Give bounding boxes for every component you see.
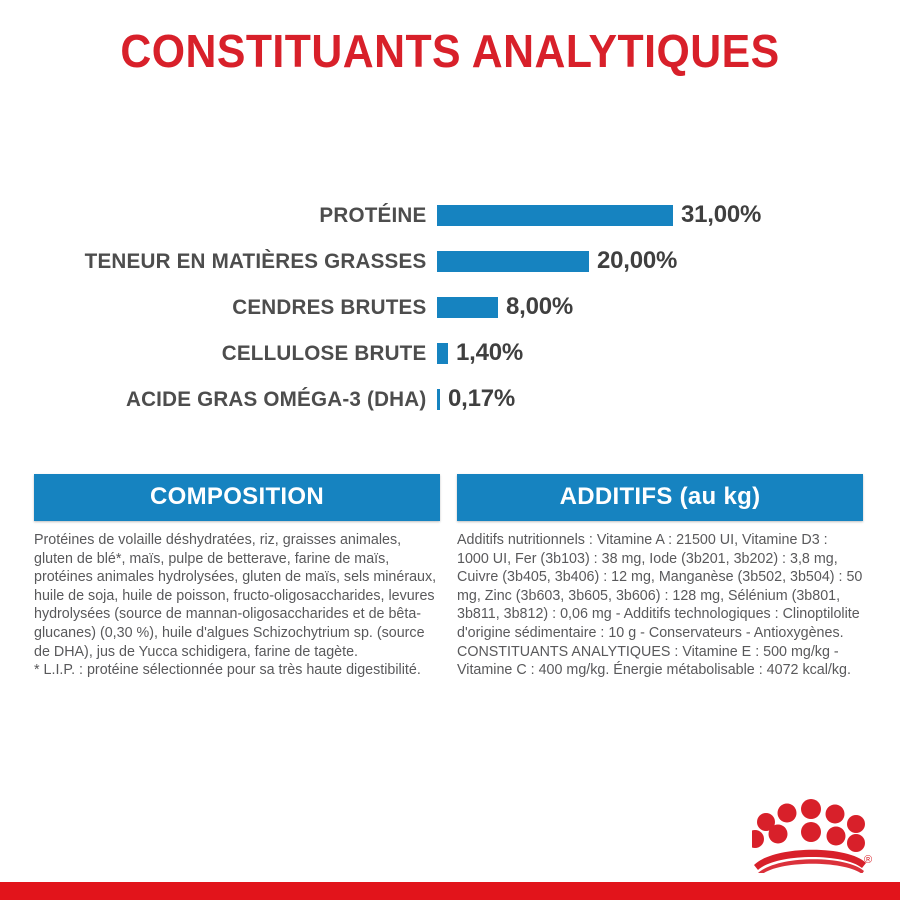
panel-header-composition: COMPOSITION: [34, 474, 440, 521]
bar-track: 0,17%: [437, 376, 900, 422]
bar-label-cellulose-brute: CELLULOSE BRUTE: [17, 341, 437, 366]
panel-composition: COMPOSITION Protéines de volaille déshyd…: [34, 474, 440, 680]
bar-value-matieres-grasses: 20,00%: [597, 247, 677, 275]
bar-label-cendres-brutes: CENDRES BRUTES: [17, 295, 437, 320]
panel-body-additifs: Additifs nutritionnels : Vitamine A : 21…: [457, 531, 863, 680]
chart-row: ACIDE GRAS OMÉGA-3 (DHA) 0,17%: [0, 376, 900, 422]
registered-mark: ®: [864, 854, 872, 866]
bar-fill-proteine: [437, 205, 673, 226]
chart-row: TENEUR EN MATIÈRES GRASSES 20,00%: [0, 238, 900, 284]
bar-track: 8,00%: [437, 284, 900, 330]
bar-value-cellulose-brute: 1,40%: [456, 339, 523, 367]
footer-red-bar: [0, 882, 900, 900]
royal-canin-crown-logo: ®: [752, 795, 874, 873]
chart-row: CENDRES BRUTES 8,00%: [0, 284, 900, 330]
bar-fill-matieres-grasses: [437, 251, 589, 272]
bar-label-matieres-grasses: TENEUR EN MATIÈRES GRASSES: [17, 249, 437, 274]
bar-value-cendres-brutes: 8,00%: [506, 293, 573, 321]
bar-value-proteine: 31,00%: [681, 201, 761, 229]
bar-label-proteine: PROTÉINE: [17, 203, 437, 228]
bar-value-omega-3-dha: 0,17%: [448, 385, 515, 413]
bar-label-omega-3-dha: ACIDE GRAS OMÉGA-3 (DHA): [17, 387, 437, 412]
panel-additifs: ADDITIFS (au kg) Additifs nutritionnels …: [457, 474, 863, 680]
panel-header-additifs: ADDITIFS (au kg): [457, 474, 863, 521]
bar-fill-omega-3-dha: [437, 389, 440, 410]
info-panels: COMPOSITION Protéines de volaille déshyd…: [34, 474, 870, 680]
bar-track: 1,40%: [437, 330, 900, 376]
bar-fill-cellulose-brute: [437, 343, 448, 364]
bar-fill-cendres-brutes: [437, 297, 498, 318]
page-title: CONSTITUANTS ANALYTIQUES: [32, 24, 869, 78]
bar-track: 31,00%: [437, 192, 900, 238]
chart-row: CELLULOSE BRUTE 1,40%: [0, 330, 900, 376]
panel-body-composition: Protéines de volaille déshydratées, riz,…: [34, 531, 440, 680]
analytical-constituents-chart: PROTÉINE 31,00% TENEUR EN MATIÈRES GRASS…: [0, 192, 900, 422]
chart-row: PROTÉINE 31,00%: [0, 192, 900, 238]
bar-track: 20,00%: [437, 238, 900, 284]
